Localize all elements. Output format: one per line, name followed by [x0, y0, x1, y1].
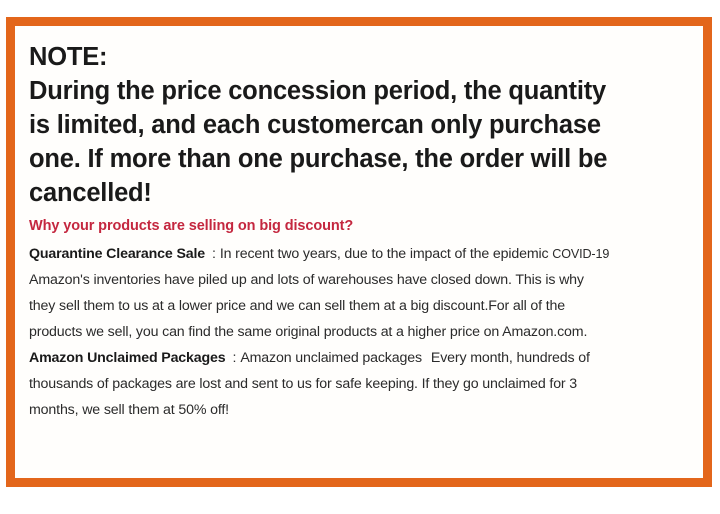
note-page: NOTE: During the price concession period… [0, 0, 720, 514]
paragraph-1-label: Quarantine Clearance Sale [29, 246, 205, 262]
paragraph-2-colon: : [226, 345, 241, 371]
note-heading: NOTE: During the price concession period… [29, 40, 703, 210]
note-body: Quarantine Clearance Sale:In recent two … [29, 241, 703, 423]
paragraph-1-line-2: Amazon's inventories have piled up and l… [29, 267, 703, 293]
paragraph-1-line-3: they sell them to us at a lower price an… [29, 293, 703, 319]
paragraph-2-line-3: months, we sell them at 50% off! [29, 397, 703, 423]
paragraph-2-line-2: thousands of packages are lost and sent … [29, 371, 703, 397]
paragraph-2-label: Amazon Unclaimed Packages [29, 350, 226, 366]
note-box-inner: NOTE: During the price concession period… [15, 26, 703, 478]
note-box: NOTE: During the price concession period… [6, 17, 712, 487]
note-heading-line-2: During the price concession period, the … [29, 74, 703, 108]
paragraph-1-line-1: Quarantine Clearance Sale:In recent two … [29, 241, 703, 267]
note-heading-line-5: cancelled! [29, 176, 703, 210]
paragraph-2-line-1: Amazon Unclaimed Packages:Amazon unclaim… [29, 345, 703, 371]
paragraph-2-line-1-text-b: Every month, hundreds of [431, 350, 590, 366]
paragraph-2-line-1-text-a: Amazon unclaimed packages [240, 350, 422, 366]
paragraph-1-line-4: products we sell, you can find the same … [29, 319, 703, 345]
note-heading-line-1: NOTE: [29, 40, 703, 74]
note-heading-line-4: one. If more than one purchase, the orde… [29, 142, 703, 176]
discount-question-subheading: Why your products are selling on big dis… [29, 216, 703, 236]
paragraph-1-colon: : [205, 241, 220, 267]
note-heading-line-3: is limited, and each customercan only pu… [29, 108, 703, 142]
paragraph-1-line-1-text: In recent two years, due to the impact o… [220, 246, 552, 262]
covid-19-term: COVID-19 [552, 247, 609, 261]
